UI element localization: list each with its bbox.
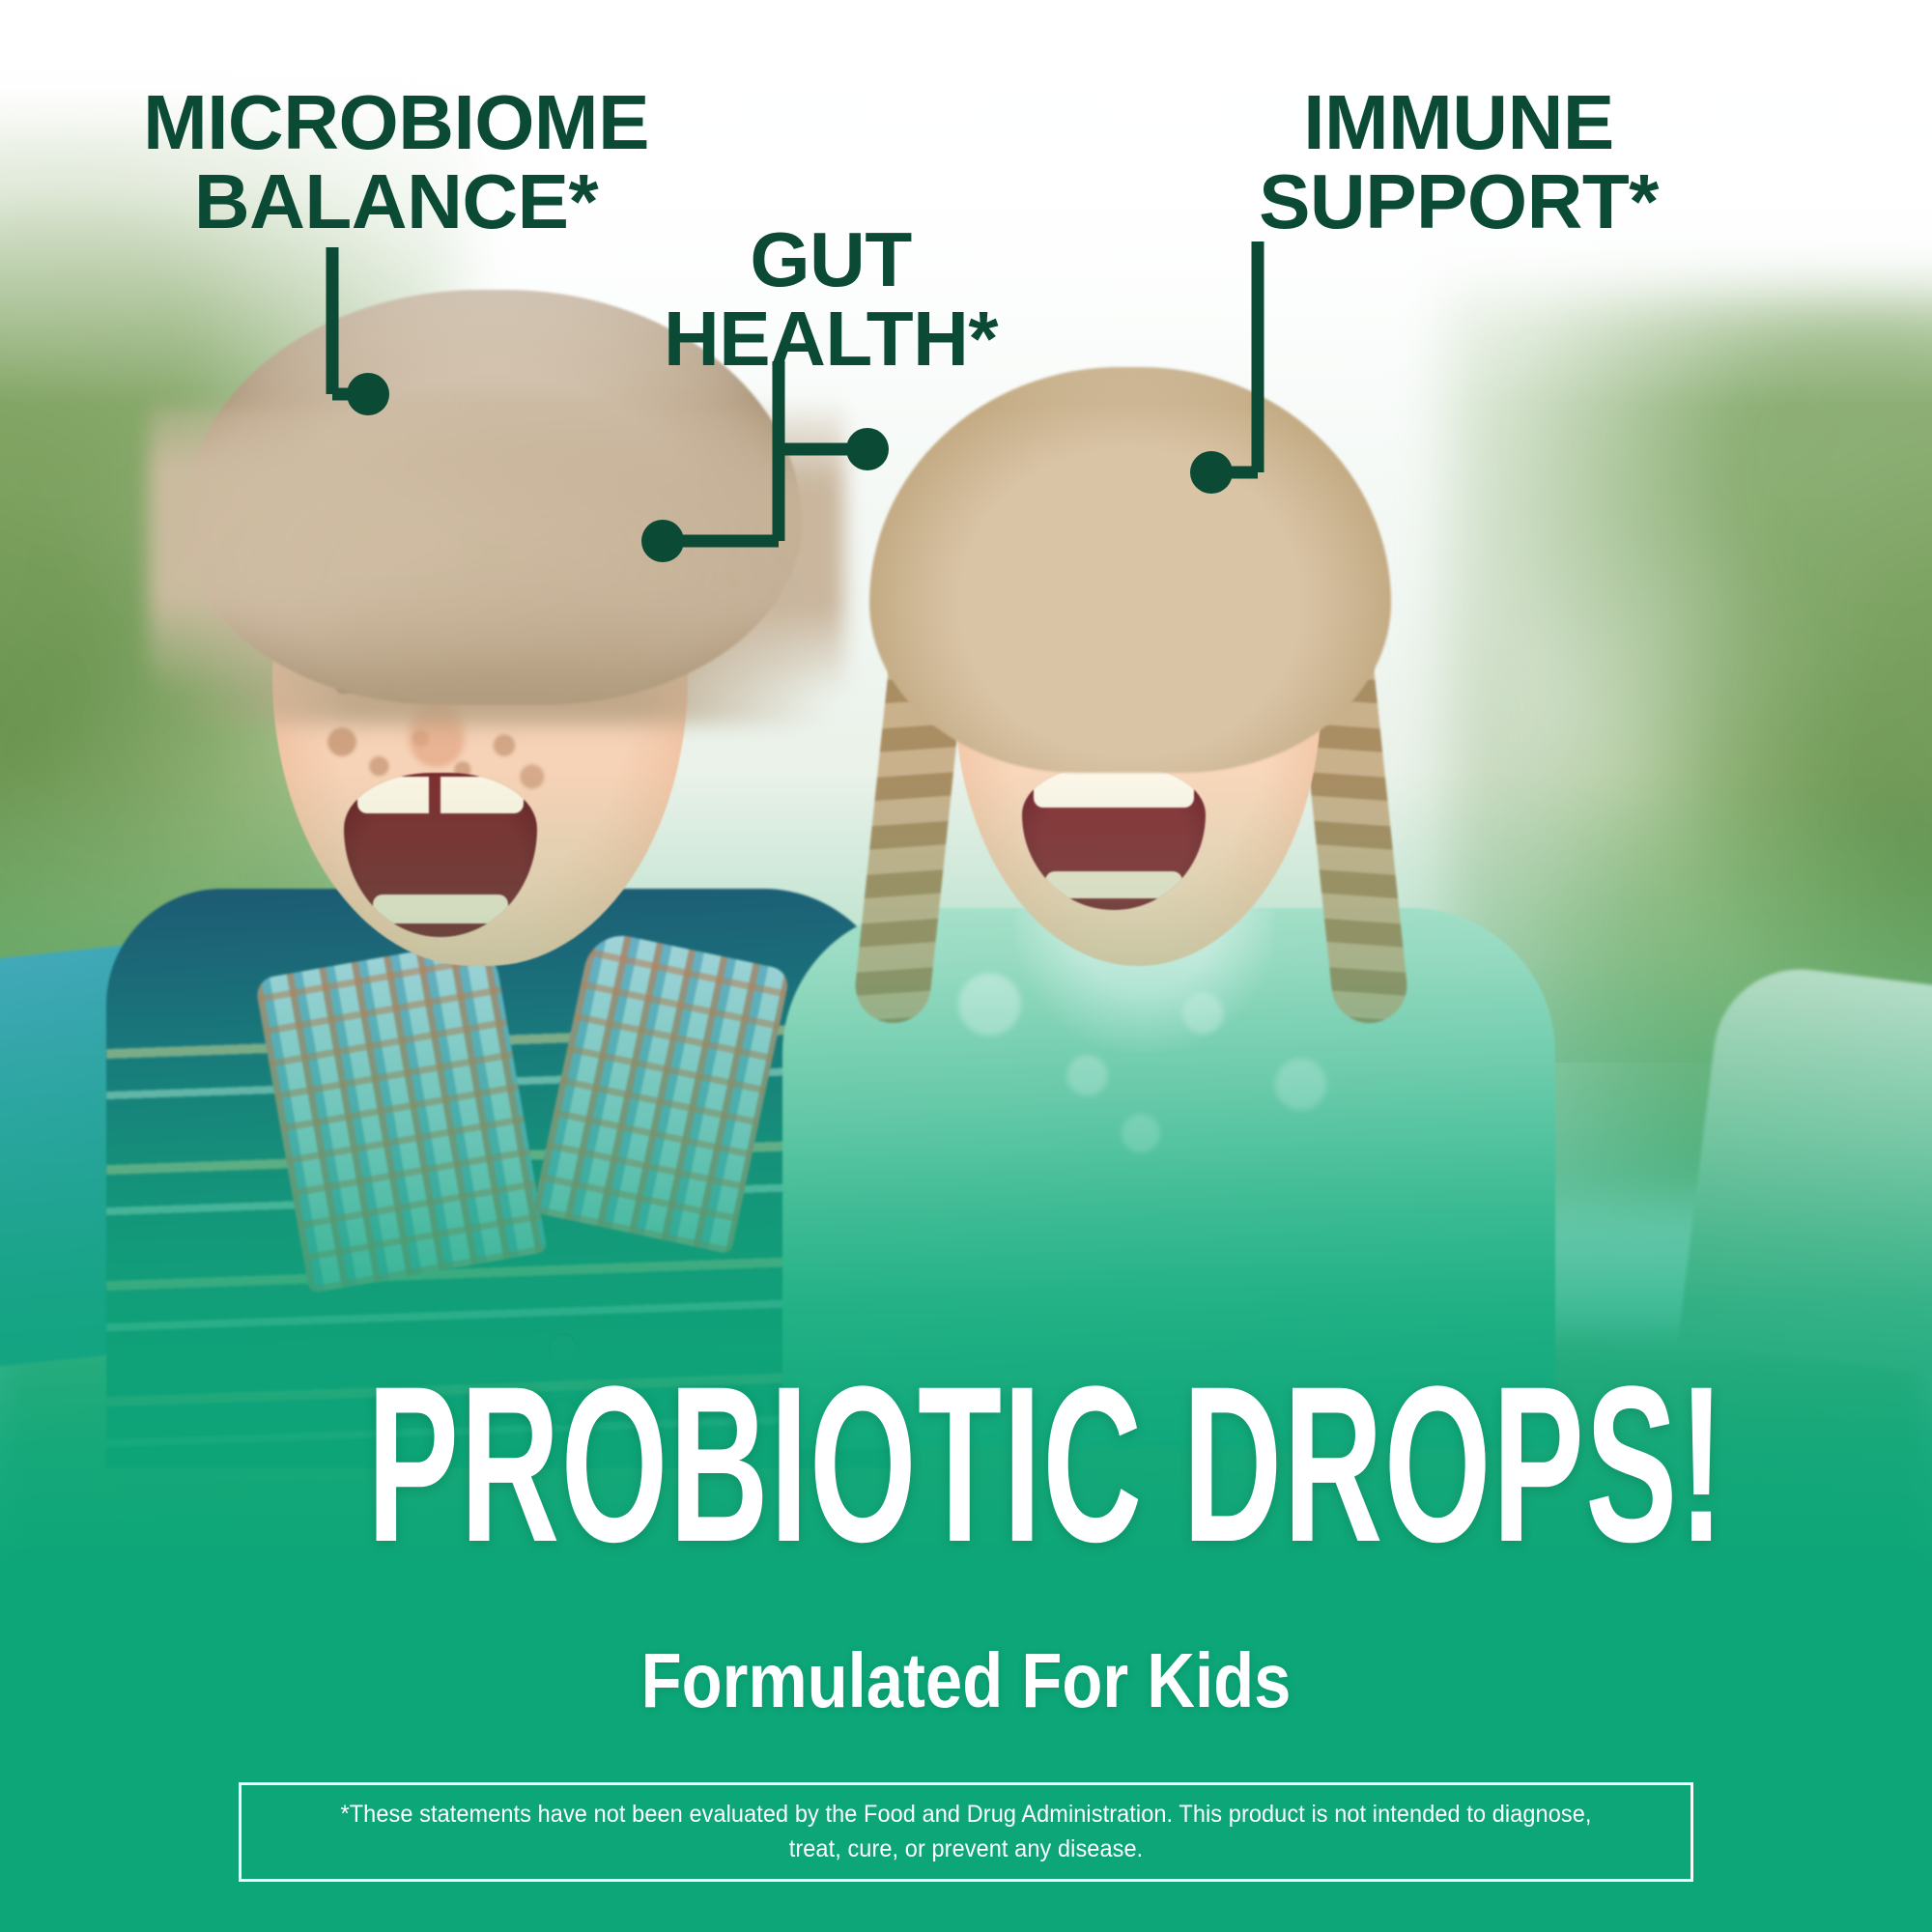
callout-dot-immune [1190,451,1233,494]
headline: PROBIOTIC DROPS! [367,1360,1565,1569]
callout-label-microbiome-balance: MICROBIOME BALANCE* [58,83,734,241]
callout-dot-microbiome [347,373,389,415]
callout-label-immune-support: IMMUNE SUPPORT* [1034,83,1884,241]
product-banner: MICROBIOME BALANCE* GUT HEALTH* IMMUNE S… [0,0,1932,1932]
disclaimer-box: *These statements have not been evaluate… [239,1782,1693,1882]
callout-dot-gut-right [846,428,889,470]
disclaimer-text: *These statements have not been evaluate… [285,1798,1647,1866]
callout-dot-gut-left [641,520,684,562]
subheadline: Formulated For Kids [135,1642,1797,1719]
callout-label-gut-health: GUT HEALTH* [609,220,1053,378]
